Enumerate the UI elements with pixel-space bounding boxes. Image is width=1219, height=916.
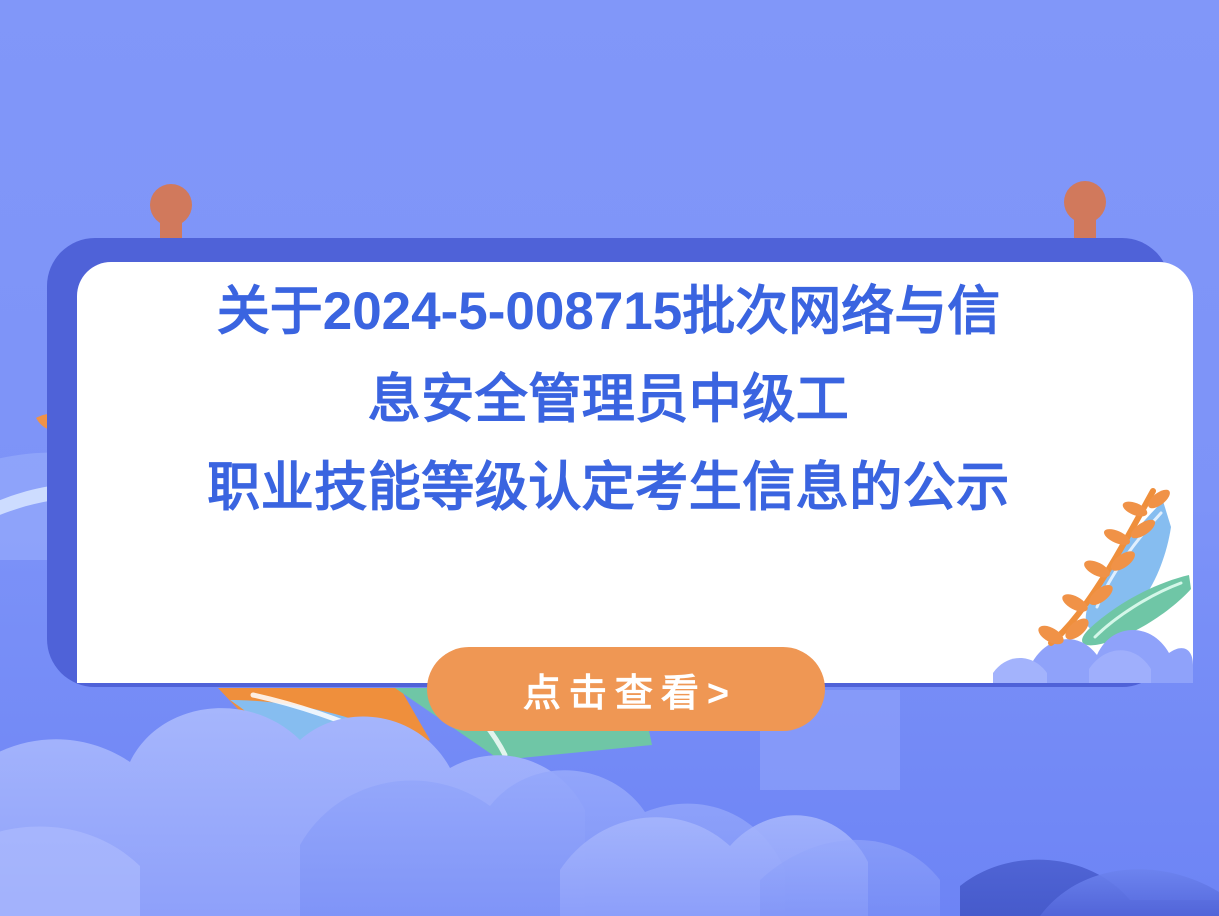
view-detail-button[interactable]: 点击查看>	[427, 647, 825, 731]
announcement-poster: 关于2024-5-008715批次网络与信 息安全管理员中级工 职业技能等级认定…	[0, 0, 1219, 916]
page-title: 关于2024-5-008715批次网络与信 息安全管理员中级工 职业技能等级认定…	[77, 268, 1140, 532]
page-title-line-1: 关于2024-5-008715批次网络与信	[77, 268, 1140, 356]
page-title-line-2: 息安全管理员中级工	[77, 356, 1140, 444]
page-title-line-3: 职业技能等级认定考生信息的公示	[77, 444, 1140, 532]
